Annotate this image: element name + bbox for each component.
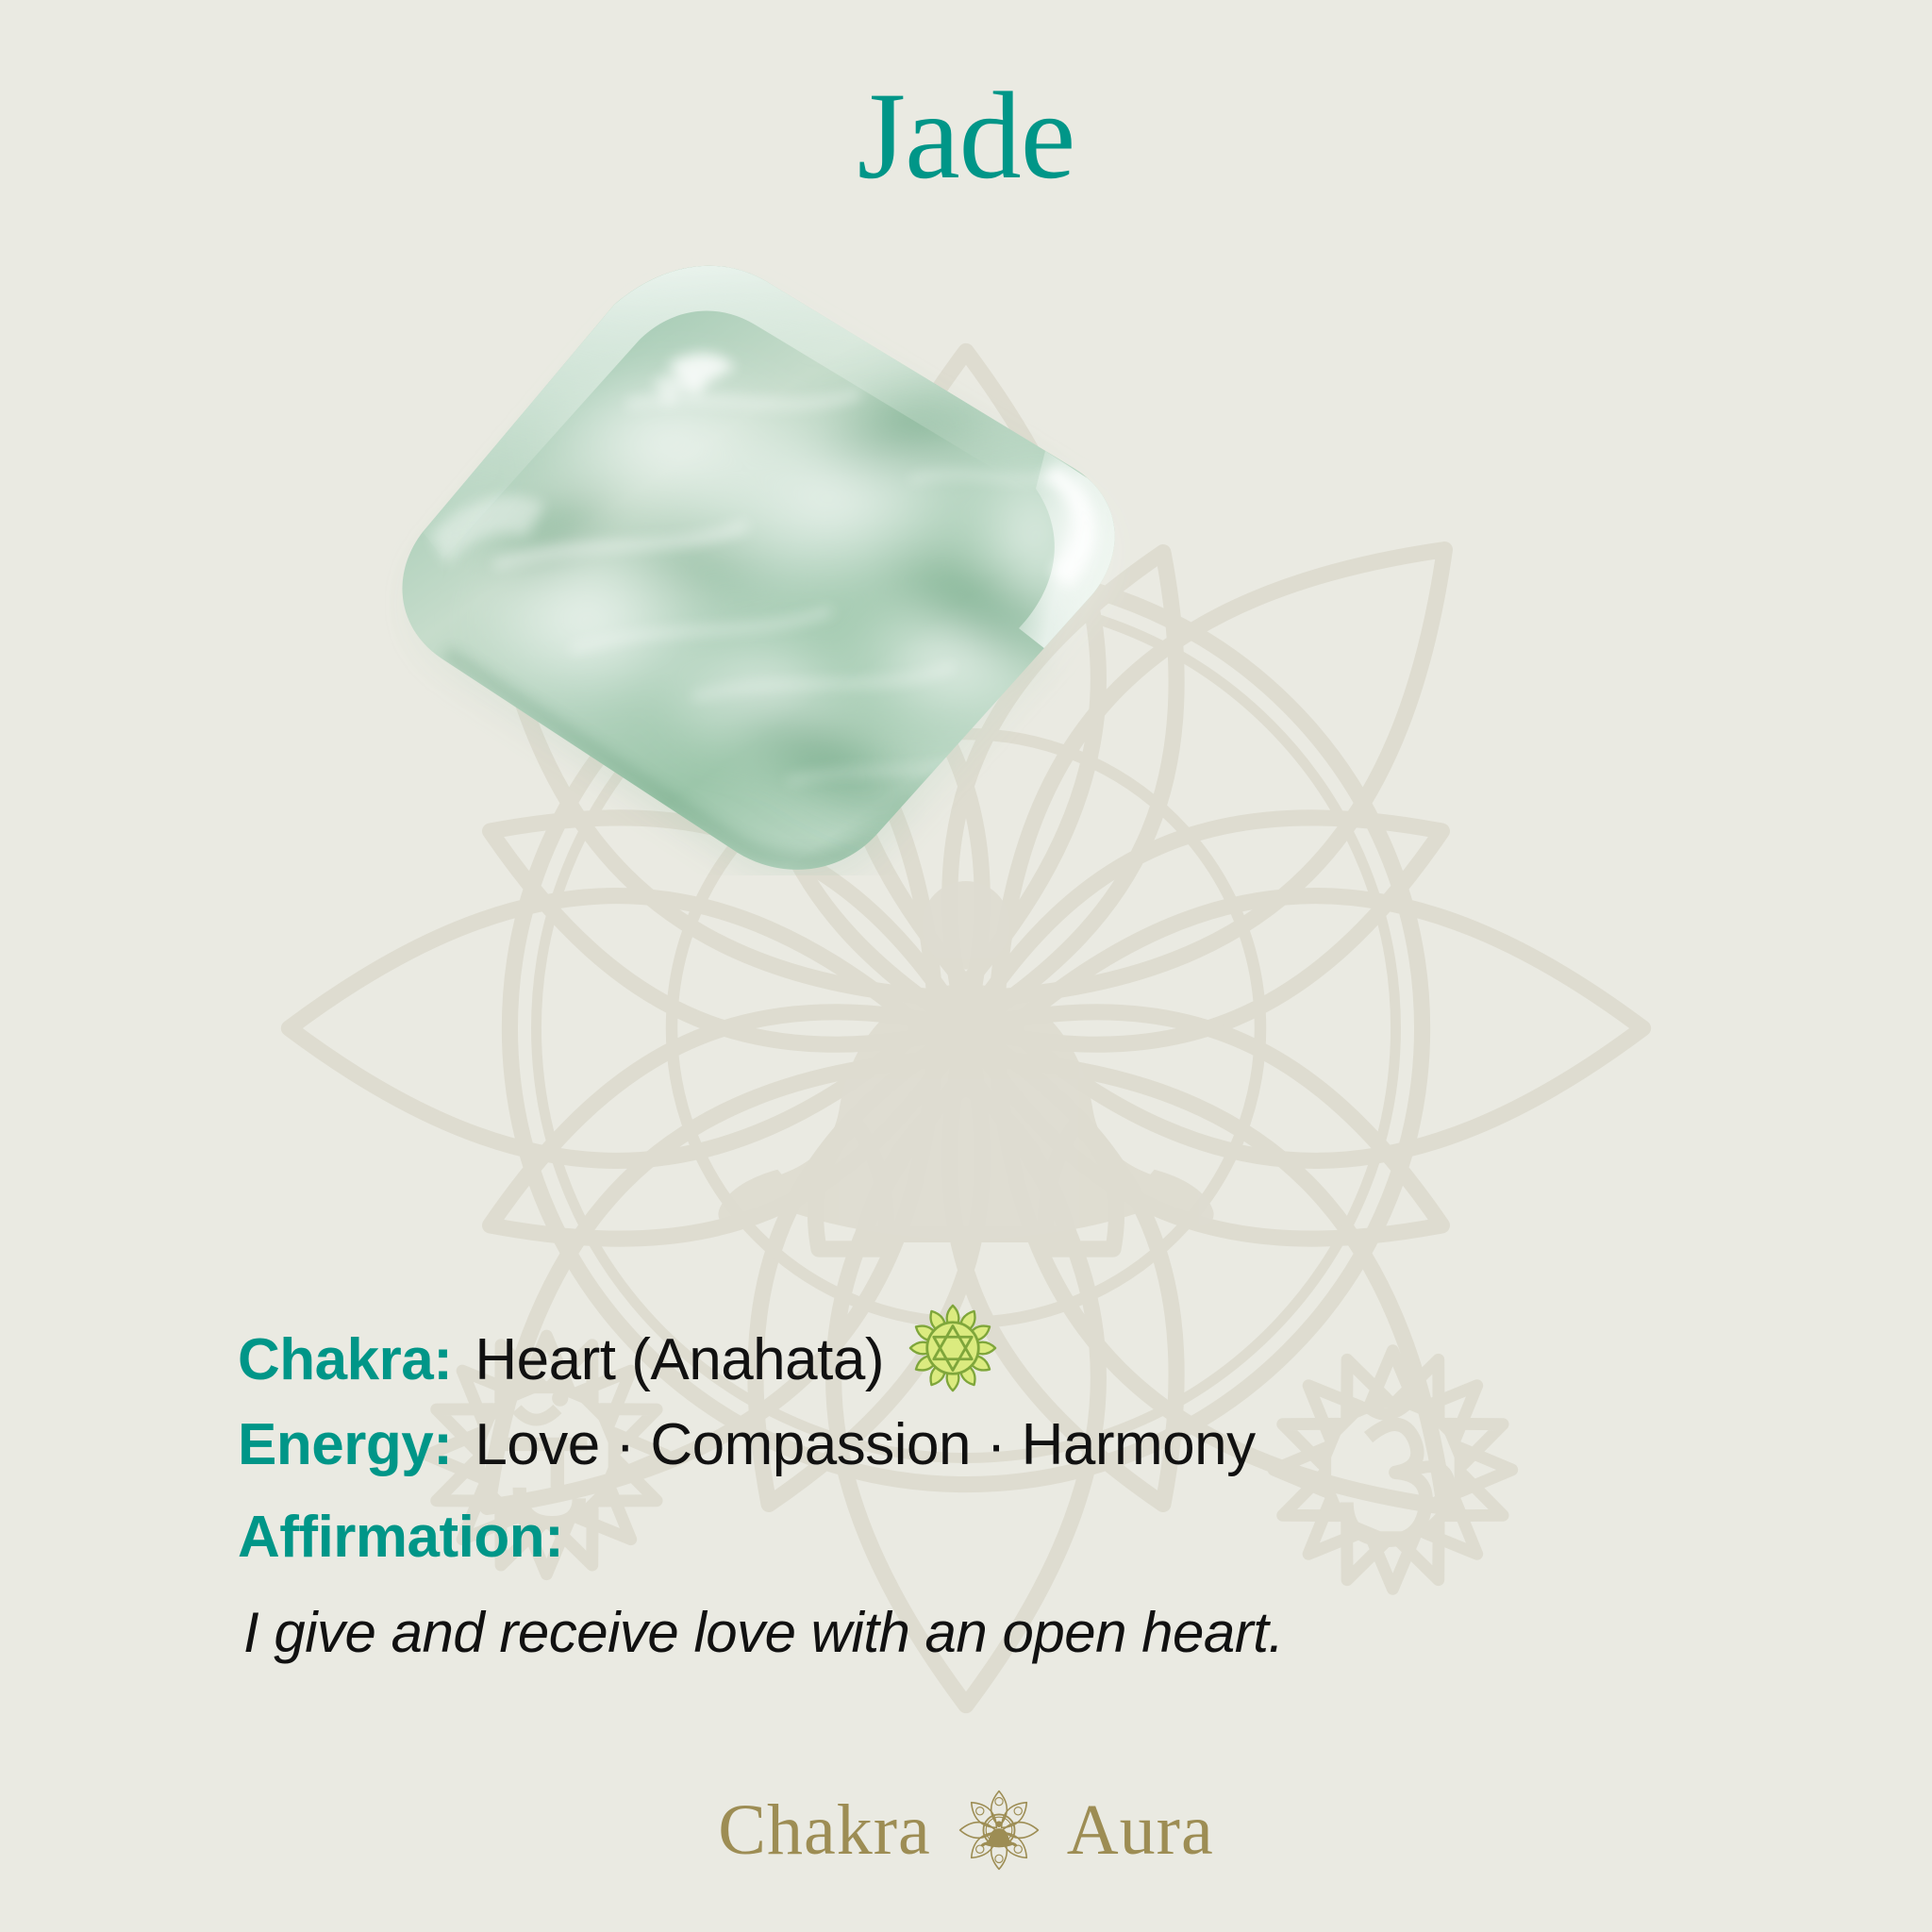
brand-name-right: Aura [1067,1794,1214,1866]
affirmation-value: I give and receive love with an open hea… [243,1600,1747,1665]
energy-value: Love · Compassion · Harmony [475,1409,1255,1481]
anahata-chakra-icon [908,1304,997,1392]
brand-name-left: Chakra [718,1794,930,1866]
affirmation-row: Affirmation: I give and receive love wit… [238,1503,1747,1664]
page-title: Jade [0,74,1932,198]
jade-stone-image [385,253,1130,875]
chakra-row: Chakra: Heart (Anahata) [238,1291,1747,1396]
jade-crystal-card: Jade [0,0,1932,1932]
crystal-info-block: Chakra: Heart (Anahata) [238,1291,1747,1665]
meditation-figure-icon [718,881,1213,1241]
chakra-label: Chakra: [238,1324,452,1396]
energy-label: Energy: [238,1409,452,1481]
energy-row: Energy: Love · Compassion · Harmony [238,1409,1747,1481]
brand-footer: Chakra [0,1787,1932,1874]
chakra-value: Heart (Anahata) [475,1324,884,1396]
lotus-meditation-mandala-icon [956,1787,1042,1874]
affirmation-label: Affirmation: [238,1503,1747,1573]
